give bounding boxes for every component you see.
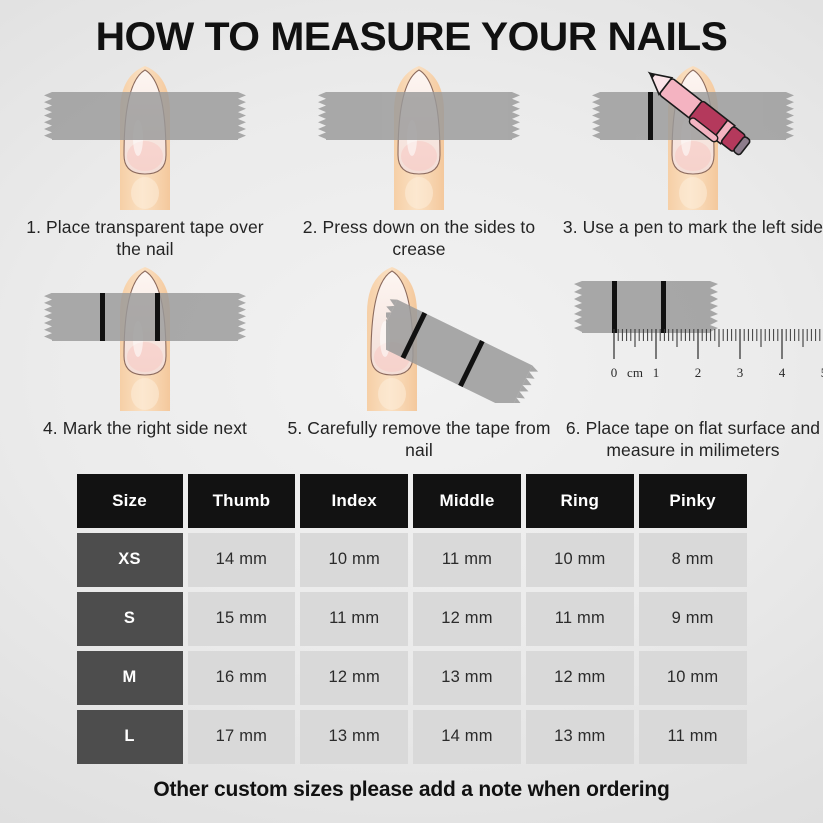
footer-note: Other custom sizes please add a note whe… <box>0 778 823 802</box>
ruler-label-2: 2 <box>695 365 702 381</box>
size-label: M <box>77 651 183 705</box>
tape-strip <box>52 92 238 140</box>
step-3-caption: 3. Use a pen to mark the left side <box>563 216 823 238</box>
size-label: L <box>77 710 183 764</box>
tape-zigzag-left-icon <box>318 92 326 140</box>
step-4: 4. Mark the right side next <box>8 261 282 462</box>
ruler-scale-labels: 0 cm 1 2 3 4 5 <box>564 365 823 383</box>
peeling-tape <box>386 283 556 408</box>
cell-ring: 12 mm <box>526 651 634 705</box>
table-row: L 17 mm 13 mm 14 mm 13 mm 11 mm <box>77 710 747 764</box>
step-2-caption: 2. Press down on the sides to crease <box>288 216 550 261</box>
cell-ring: 10 mm <box>526 533 634 587</box>
step-2: 2. Press down on the sides to crease <box>282 60 556 261</box>
tape-zigzag-right-icon <box>238 293 246 341</box>
tape-zigzag-left-icon <box>44 92 52 140</box>
step-5-illustration <box>282 261 556 411</box>
step-5: 5. Carefully remove the tape from nail <box>282 261 556 462</box>
step-6-caption: 6. Place tape on flat surface and measur… <box>556 417 823 462</box>
step-5-caption: 5. Carefully remove the tape from nail <box>283 417 555 462</box>
cell-middle: 12 mm <box>413 592 521 646</box>
step-1-illustration <box>8 60 282 210</box>
step-4-caption: 4. Mark the right side next <box>43 417 247 439</box>
step-6-illustration: 0 cm 1 2 3 4 5 <box>556 261 823 411</box>
table-header-row: Size Thumb Index Middle Ring Pinky <box>77 474 747 528</box>
cell-index: 11 mm <box>300 592 408 646</box>
column-header-thumb: Thumb <box>188 474 296 528</box>
tape-zigzag-right-icon <box>512 92 520 140</box>
size-table: Size Thumb Index Middle Ring Pinky XS 14… <box>77 474 747 764</box>
cell-pinky: 9 mm <box>639 592 747 646</box>
ruler-label-1: 1 <box>653 365 660 381</box>
page-title: HOW TO MEASURE YOUR NAILS <box>0 0 823 58</box>
step-6: 0 cm 1 2 3 4 5 6. Place tape on flat sur… <box>556 261 823 462</box>
table-row: M 16 mm 12 mm 13 mm 12 mm 10 mm <box>77 651 747 705</box>
tape-zigzag-right-icon <box>786 92 794 140</box>
cell-thumb: 16 mm <box>188 651 296 705</box>
ruler: 0 cm 1 2 3 4 5 <box>564 267 823 407</box>
column-header-pinky: Pinky <box>639 474 747 528</box>
cell-thumb: 17 mm <box>188 710 296 764</box>
step-4-illustration <box>8 261 282 411</box>
right-mark <box>155 293 160 341</box>
cell-middle: 13 mm <box>413 651 521 705</box>
step-1-caption: 1. Place transparent tape over the nail <box>14 216 276 261</box>
tape-zigzag-left-icon <box>592 92 600 140</box>
table-row: S 15 mm 11 mm 12 mm 11 mm 9 mm <box>77 592 747 646</box>
size-label: S <box>77 592 183 646</box>
cell-index: 13 mm <box>300 710 408 764</box>
cell-pinky: 11 mm <box>639 710 747 764</box>
cell-pinky: 8 mm <box>639 533 747 587</box>
column-header-size: Size <box>77 474 183 528</box>
steps-grid: 1. Place transparent tape over the nail <box>0 60 823 462</box>
cell-thumb: 14 mm <box>188 533 296 587</box>
cell-thumb: 15 mm <box>188 592 296 646</box>
cell-ring: 11 mm <box>526 592 634 646</box>
step-2-illustration <box>282 60 556 210</box>
cell-middle: 11 mm <box>413 533 521 587</box>
cell-ring: 13 mm <box>526 710 634 764</box>
tape-strip <box>52 293 238 341</box>
cell-middle: 14 mm <box>413 710 521 764</box>
size-label: XS <box>77 533 183 587</box>
step-3-illustration <box>556 60 823 210</box>
tape-zigzag-right-icon <box>238 92 246 140</box>
tape-strip <box>326 92 512 140</box>
column-header-middle: Middle <box>413 474 521 528</box>
infographic-page: HOW TO MEASURE YOUR NAILS <box>0 0 823 823</box>
ruler-label-3: 3 <box>737 365 744 381</box>
cell-pinky: 10 mm <box>639 651 747 705</box>
step-1: 1. Place transparent tape over the nail <box>8 60 282 261</box>
column-header-index: Index <box>300 474 408 528</box>
step-3: 3. Use a pen to mark the left side <box>556 60 823 261</box>
column-header-ring: Ring <box>526 474 634 528</box>
pen-icon <box>642 66 762 167</box>
tape-zigzag-left-icon <box>44 293 52 341</box>
table-row: XS 14 mm 10 mm 11 mm 10 mm 8 mm <box>77 533 747 587</box>
ruler-label-unit: cm <box>627 365 643 381</box>
ruler-label-4: 4 <box>779 365 786 381</box>
left-mark <box>100 293 105 341</box>
ruler-label-0: 0 <box>611 365 618 381</box>
cell-index: 10 mm <box>300 533 408 587</box>
cell-index: 12 mm <box>300 651 408 705</box>
